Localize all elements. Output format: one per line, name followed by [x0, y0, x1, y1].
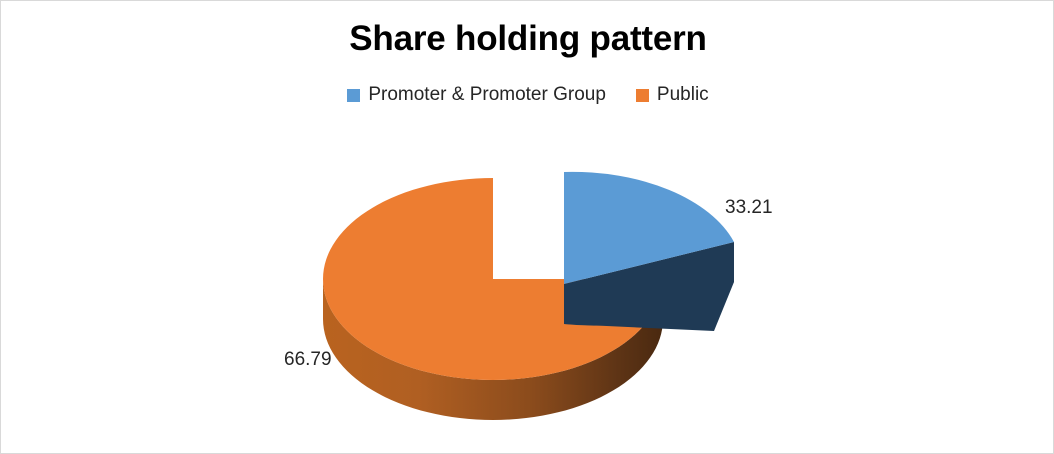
data-label-public: 66.79 [284, 349, 332, 371]
pie-slice-promoter-promoter-group[interactable] [564, 172, 734, 331]
data-label-promoter: 33.21 [725, 197, 773, 219]
pie-plot-area: 66.79 33.21 [1, 1, 1054, 454]
chart-container: Share holding pattern Promoter & Promote… [0, 0, 1054, 454]
pie-chart-3d-graphic [1, 1, 1054, 454]
